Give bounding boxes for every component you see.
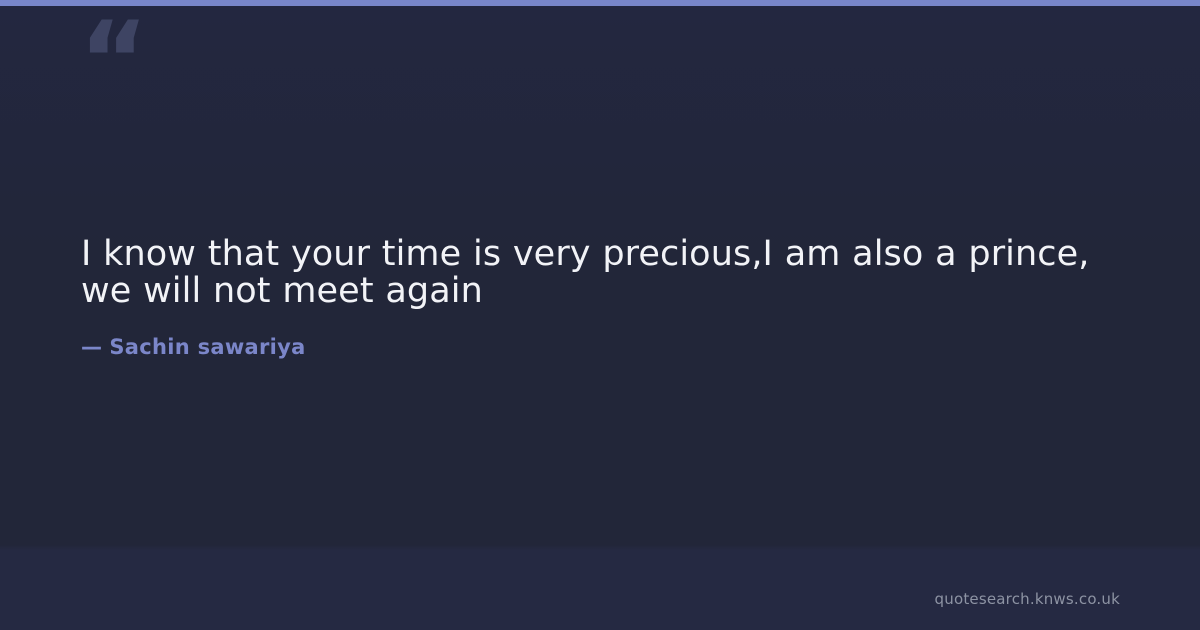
top-accent-bar [0,0,1200,6]
attribution-author: Sachin sawariya [109,335,305,359]
quote-attribution: —Sachin sawariya [81,310,1121,360]
site-watermark: quotesearch.knws.co.uk [935,590,1120,608]
opening-double-quote-icon: “ [79,8,147,114]
attribution-dash: — [81,334,109,360]
quote-card: “ I know that your time is very precious… [0,0,1200,630]
quote-content: I know that your time is very precious,I… [81,236,1121,360]
quote-text: I know that your time is very precious,I… [81,236,1121,310]
